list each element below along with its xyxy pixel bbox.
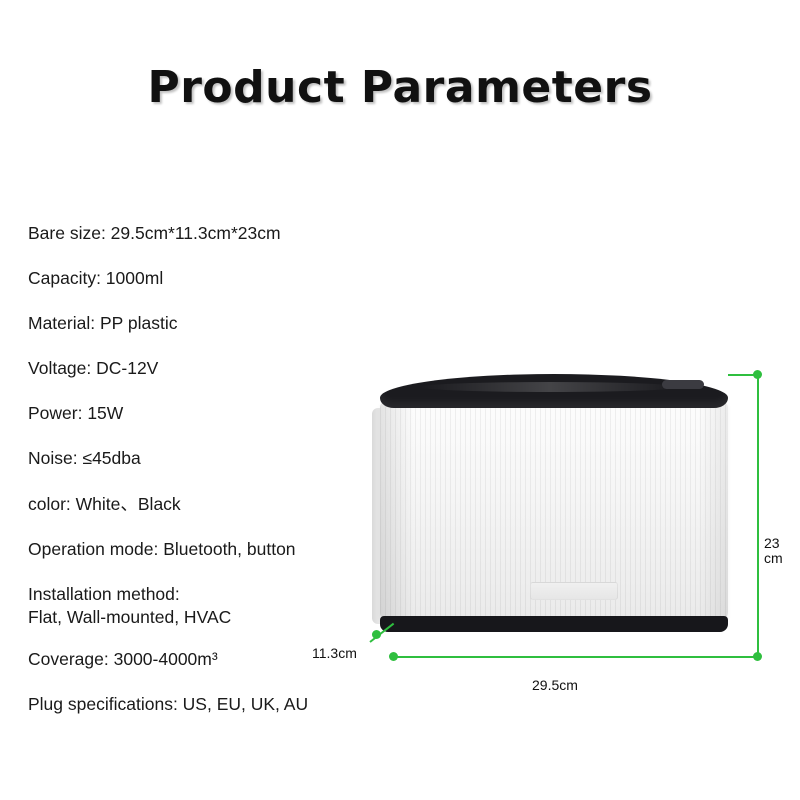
spec-installation-method: Installation method: Flat, Wall-mounted,…	[28, 583, 428, 629]
device-body	[380, 400, 728, 622]
dimension-line-width	[393, 656, 759, 658]
spec-capacity: Capacity: 1000ml	[28, 267, 428, 290]
spec-voltage: Voltage: DC-12V	[28, 357, 428, 380]
page-title: Product Parameters	[0, 62, 800, 113]
device-left-shading	[380, 400, 414, 622]
spec-coverage: Coverage: 3000-4000m³	[28, 648, 428, 671]
device-top-cover	[380, 374, 728, 408]
dimension-leader-top	[728, 374, 758, 376]
spec-power: Power: 15W	[28, 402, 428, 425]
spec-plug-specifications: Plug specifications: US, EU, UK, AU	[28, 693, 428, 716]
product-parameters-page: Product Parameters Bare size: 29.5cm*11.…	[0, 0, 800, 800]
spec-noise: Noise: ≤45dba	[28, 447, 428, 470]
dimension-line-height	[757, 374, 759, 656]
device-top-highlight	[420, 382, 680, 392]
dimension-label-width: 29.5cm	[532, 678, 578, 693]
specification-list: Bare size: 29.5cm*11.3cm*23cm Capacity: …	[28, 222, 428, 738]
spec-operation-mode: Operation mode: Bluetooth, button	[28, 538, 428, 561]
spec-material: Material: PP plastic	[28, 312, 428, 335]
product-illustration: 23 cm 11.3cm 29.5cm	[372, 368, 768, 668]
spec-bare-size: Bare size: 29.5cm*11.3cm*23cm	[28, 222, 428, 245]
spec-color: color: White、Black	[28, 493, 428, 516]
dimension-label-height: 23 cm	[764, 536, 783, 567]
device-front-panel	[530, 582, 618, 600]
device-base	[380, 616, 728, 632]
dimension-label-depth: 11.3cm	[312, 646, 357, 661]
device-right-shading	[698, 400, 728, 622]
device-top-vent	[662, 380, 704, 389]
